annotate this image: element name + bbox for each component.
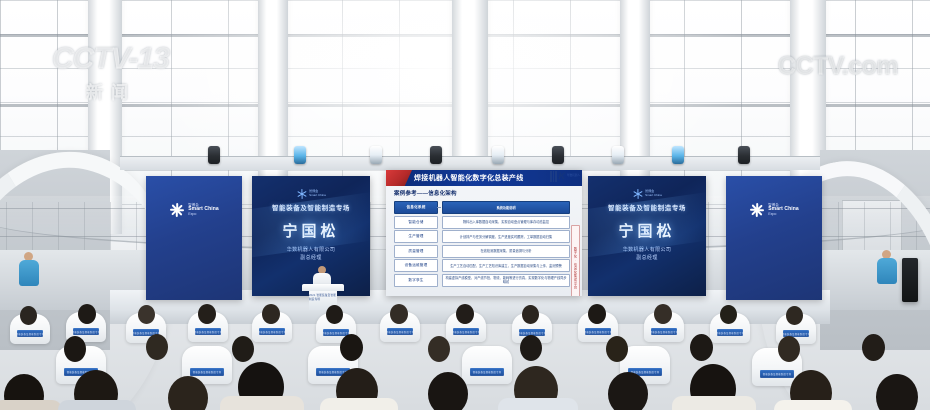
- seat-tag-label: 智能装备及智能制造专场: [73, 328, 99, 335]
- stage-light: [492, 146, 504, 164]
- presentation-slide: 焊接机器人智能化数字化总装产线 K 华数机器人 案例参考——信息化架构 信息化系…: [386, 170, 582, 296]
- slide-title-bar: 焊接机器人智能化数字化总装产线 K 华数机器人: [386, 170, 582, 186]
- audience-member: [138, 305, 155, 324]
- speaker-name: 宁国松: [252, 220, 370, 241]
- session-title: 智能装备及智能制造专场: [272, 202, 350, 212]
- smart-china-expo-starburst-icon: [169, 202, 185, 218]
- speaker-affiliation: 华数机器人有限公司 副总经理: [252, 246, 370, 262]
- seat-tag-label: 智能装备及智能制造专场: [17, 330, 43, 337]
- pa-speaker-tower: [902, 258, 918, 302]
- audience-member: [606, 336, 628, 362]
- row-connector: [437, 207, 441, 208]
- row-label: 生产管理: [394, 230, 438, 243]
- audience-member: [232, 336, 254, 362]
- audience-member: [78, 304, 96, 324]
- stage-light: [672, 146, 684, 164]
- seat-tag-label: 智能装备及智能制造专场: [651, 328, 677, 335]
- expo-banner-right: 智博会 Smart China Expo: [726, 176, 822, 300]
- row-detail: 系统功能说明: [442, 201, 570, 214]
- expo-logo-en: Smart China: [309, 194, 326, 197]
- audience-member: [786, 306, 803, 325]
- audience-member: [498, 398, 578, 410]
- audience-member: [64, 336, 86, 362]
- expo-logo: 智博会 Smart China Expo: [146, 202, 242, 218]
- seat-tag-label: 智能装备及智能制造专场: [760, 370, 794, 378]
- audience-member: [58, 400, 136, 410]
- row-label: 智能仓储: [394, 216, 438, 229]
- audience-member: [862, 334, 885, 361]
- audience-member: [672, 396, 756, 410]
- row-detail: 构建虚拟产线模型，对产线节拍、物流、能耗等进行仿真，实现数字化与物理产线同步映射: [442, 274, 570, 287]
- seat-tag-label: 智能装备及智能制造专场: [453, 328, 479, 335]
- audience-chair: 智能装备及智能制造专场: [462, 346, 512, 384]
- row-detail: 在线检测数据采集，质量追溯与分析: [442, 245, 570, 258]
- row-label: 设备运维管理: [394, 259, 438, 272]
- audience-member: [262, 304, 280, 324]
- row-detail: 物料出入库数据自动采集，实现自动盘点管理与库存动态监控: [442, 216, 570, 229]
- lighting-truss: [120, 156, 820, 170]
- audience-member: [778, 336, 800, 362]
- slide-side-note: 数字化 · 信息化集成平台: [571, 225, 580, 296]
- stage-light: [612, 146, 624, 164]
- smart-china-expo-starburst-icon: [632, 188, 643, 199]
- brand-name: 华数机器人: [567, 175, 580, 178]
- row-detail: 生产工艺自动匹配，生产工艺知识库建立，生产数据自动采集与上传、监测预警: [442, 259, 570, 272]
- seat-tag-label: 智能装备及智能制造专场: [259, 328, 285, 335]
- session-title: 智能装备及智能制造专场: [608, 202, 686, 212]
- seat-tag-label: 智能装备及智能制造专场: [387, 328, 413, 335]
- row-label: 信息化系统: [394, 201, 438, 214]
- table-row: 信息化系统 系统功能说明: [394, 201, 570, 214]
- led-screen-left: 智博会 Smart China 智能装备及智能制造专场 宁国松 华数机器人有限公…: [252, 176, 370, 296]
- expo-logo-en2: Expo: [768, 213, 799, 217]
- brand-bars-icon: [550, 171, 557, 182]
- audience-member: [428, 336, 450, 362]
- speaker-affiliation: 华数机器人有限公司 副总经理: [588, 246, 706, 262]
- audience-member: [146, 334, 168, 360]
- expo-logo: 智博会 Smart China: [632, 188, 662, 199]
- stage-light: [738, 146, 750, 164]
- staff-uniform: [877, 258, 897, 284]
- stage-light: [430, 146, 442, 164]
- smart-china-expo-starburst-icon: [749, 202, 765, 218]
- expo-logo-en: Smart China: [645, 194, 662, 197]
- table-row: 质量管理 在线检测数据采集，质量追溯与分析: [394, 245, 570, 258]
- slide-subtitle: 案例参考——信息化架构: [386, 186, 582, 199]
- expo-banner-left: 智博会 Smart China Expo: [146, 176, 242, 300]
- seat-tag-label: 智能装备及智能制造专场: [195, 328, 221, 335]
- speaker-title: 副总经理: [252, 254, 370, 262]
- audience-member: [520, 335, 542, 361]
- audience-member: [220, 396, 304, 410]
- row-label: 质量管理: [394, 245, 438, 258]
- audience-member: [428, 372, 468, 410]
- seat-tag-label: 智能装备及智能制造专场: [585, 328, 611, 335]
- slide-accent-shape: [386, 170, 412, 186]
- audience-member: [20, 306, 37, 325]
- audience-member: [588, 304, 606, 324]
- audience-member: [720, 305, 737, 324]
- slide-content-table: 信息化系统 系统功能说明 智能仓储 物料出入库数据自动采集，实现自动盘点管理与库…: [386, 199, 582, 296]
- stage-light: [370, 146, 382, 164]
- seat-tag-label: 智能装备及智能制造专场: [190, 368, 224, 376]
- table-row: 生产管理 计划排产与任务分解调度，生产进度实时跟踪，工单数据自动归集: [394, 230, 570, 243]
- stage-light: [208, 146, 220, 164]
- table-row: 设备运维管理 生产工艺自动匹配，生产工艺知识库建立，生产数据自动采集与上传、监测…: [394, 259, 570, 272]
- expo-logo-en2: Expo: [188, 213, 219, 217]
- row-label: 数字孪生: [394, 274, 438, 287]
- seat-tag-label: 智能装备及智能制造专场: [470, 368, 504, 376]
- row-detail: 计划排产与任务分解调度，生产进度实时跟踪，工单数据自动归集: [442, 230, 570, 243]
- table-row: 智能仓储 物料出入库数据自动采集，实现自动盘点管理与库存动态监控: [394, 216, 570, 229]
- audience-member: [654, 304, 672, 324]
- slide-title: 焊接机器人智能化数字化总装产线: [414, 173, 524, 183]
- speaker-name: 宁国松: [588, 220, 706, 241]
- expo-logo: 智博会 Smart China: [296, 188, 326, 199]
- expo-logo: 智博会 Smart China Expo: [726, 202, 822, 218]
- audience-member: [608, 372, 648, 410]
- speaker-title: 副总经理: [588, 254, 706, 262]
- stage-light: [552, 146, 564, 164]
- broadcast-frame: 智博会 Smart China Expo 智博会: [0, 0, 930, 410]
- audience-member: [326, 305, 343, 324]
- audience-member: [876, 374, 918, 410]
- brand-initial: K: [559, 172, 566, 181]
- speaker-company: 华数机器人有限公司: [588, 246, 706, 254]
- audience-member: [522, 305, 539, 324]
- audience-member: [390, 304, 408, 324]
- seat-tag-label: 智能装备及智能制造专场: [717, 329, 743, 336]
- staff-uniform: [19, 260, 39, 286]
- slide-brand-logo: K 华数机器人: [550, 171, 580, 182]
- lectern-top: [302, 284, 344, 291]
- smart-china-expo-starburst-icon: [296, 188, 307, 199]
- audience-member: [456, 304, 474, 324]
- led-screen-center: 焊接机器人智能化数字化总装产线 K 华数机器人 案例参考——信息化架构 信息化系…: [386, 170, 582, 296]
- table-row: 数字孪生 构建虚拟产线模型，对产线节拍、物流、能耗等进行仿真，实现数字化与物理产…: [394, 274, 570, 287]
- audience-member: [340, 334, 363, 361]
- audience-member: [774, 400, 852, 410]
- stage-light: [294, 146, 306, 164]
- audience-member: [0, 400, 62, 410]
- audience-member: [320, 398, 398, 410]
- audience-member: [198, 304, 216, 324]
- speaker-company: 华数机器人有限公司: [252, 246, 370, 254]
- audience-area: 智能装备及智能制造专场 智能装备及智能制造专场 智能装备及智能制造专场 智能装备…: [0, 300, 930, 410]
- led-screen-right: 智博会 Smart China 智能装备及智能制造专场 宁国松 华数机器人有限公…: [588, 176, 706, 296]
- audience-member: [690, 334, 713, 361]
